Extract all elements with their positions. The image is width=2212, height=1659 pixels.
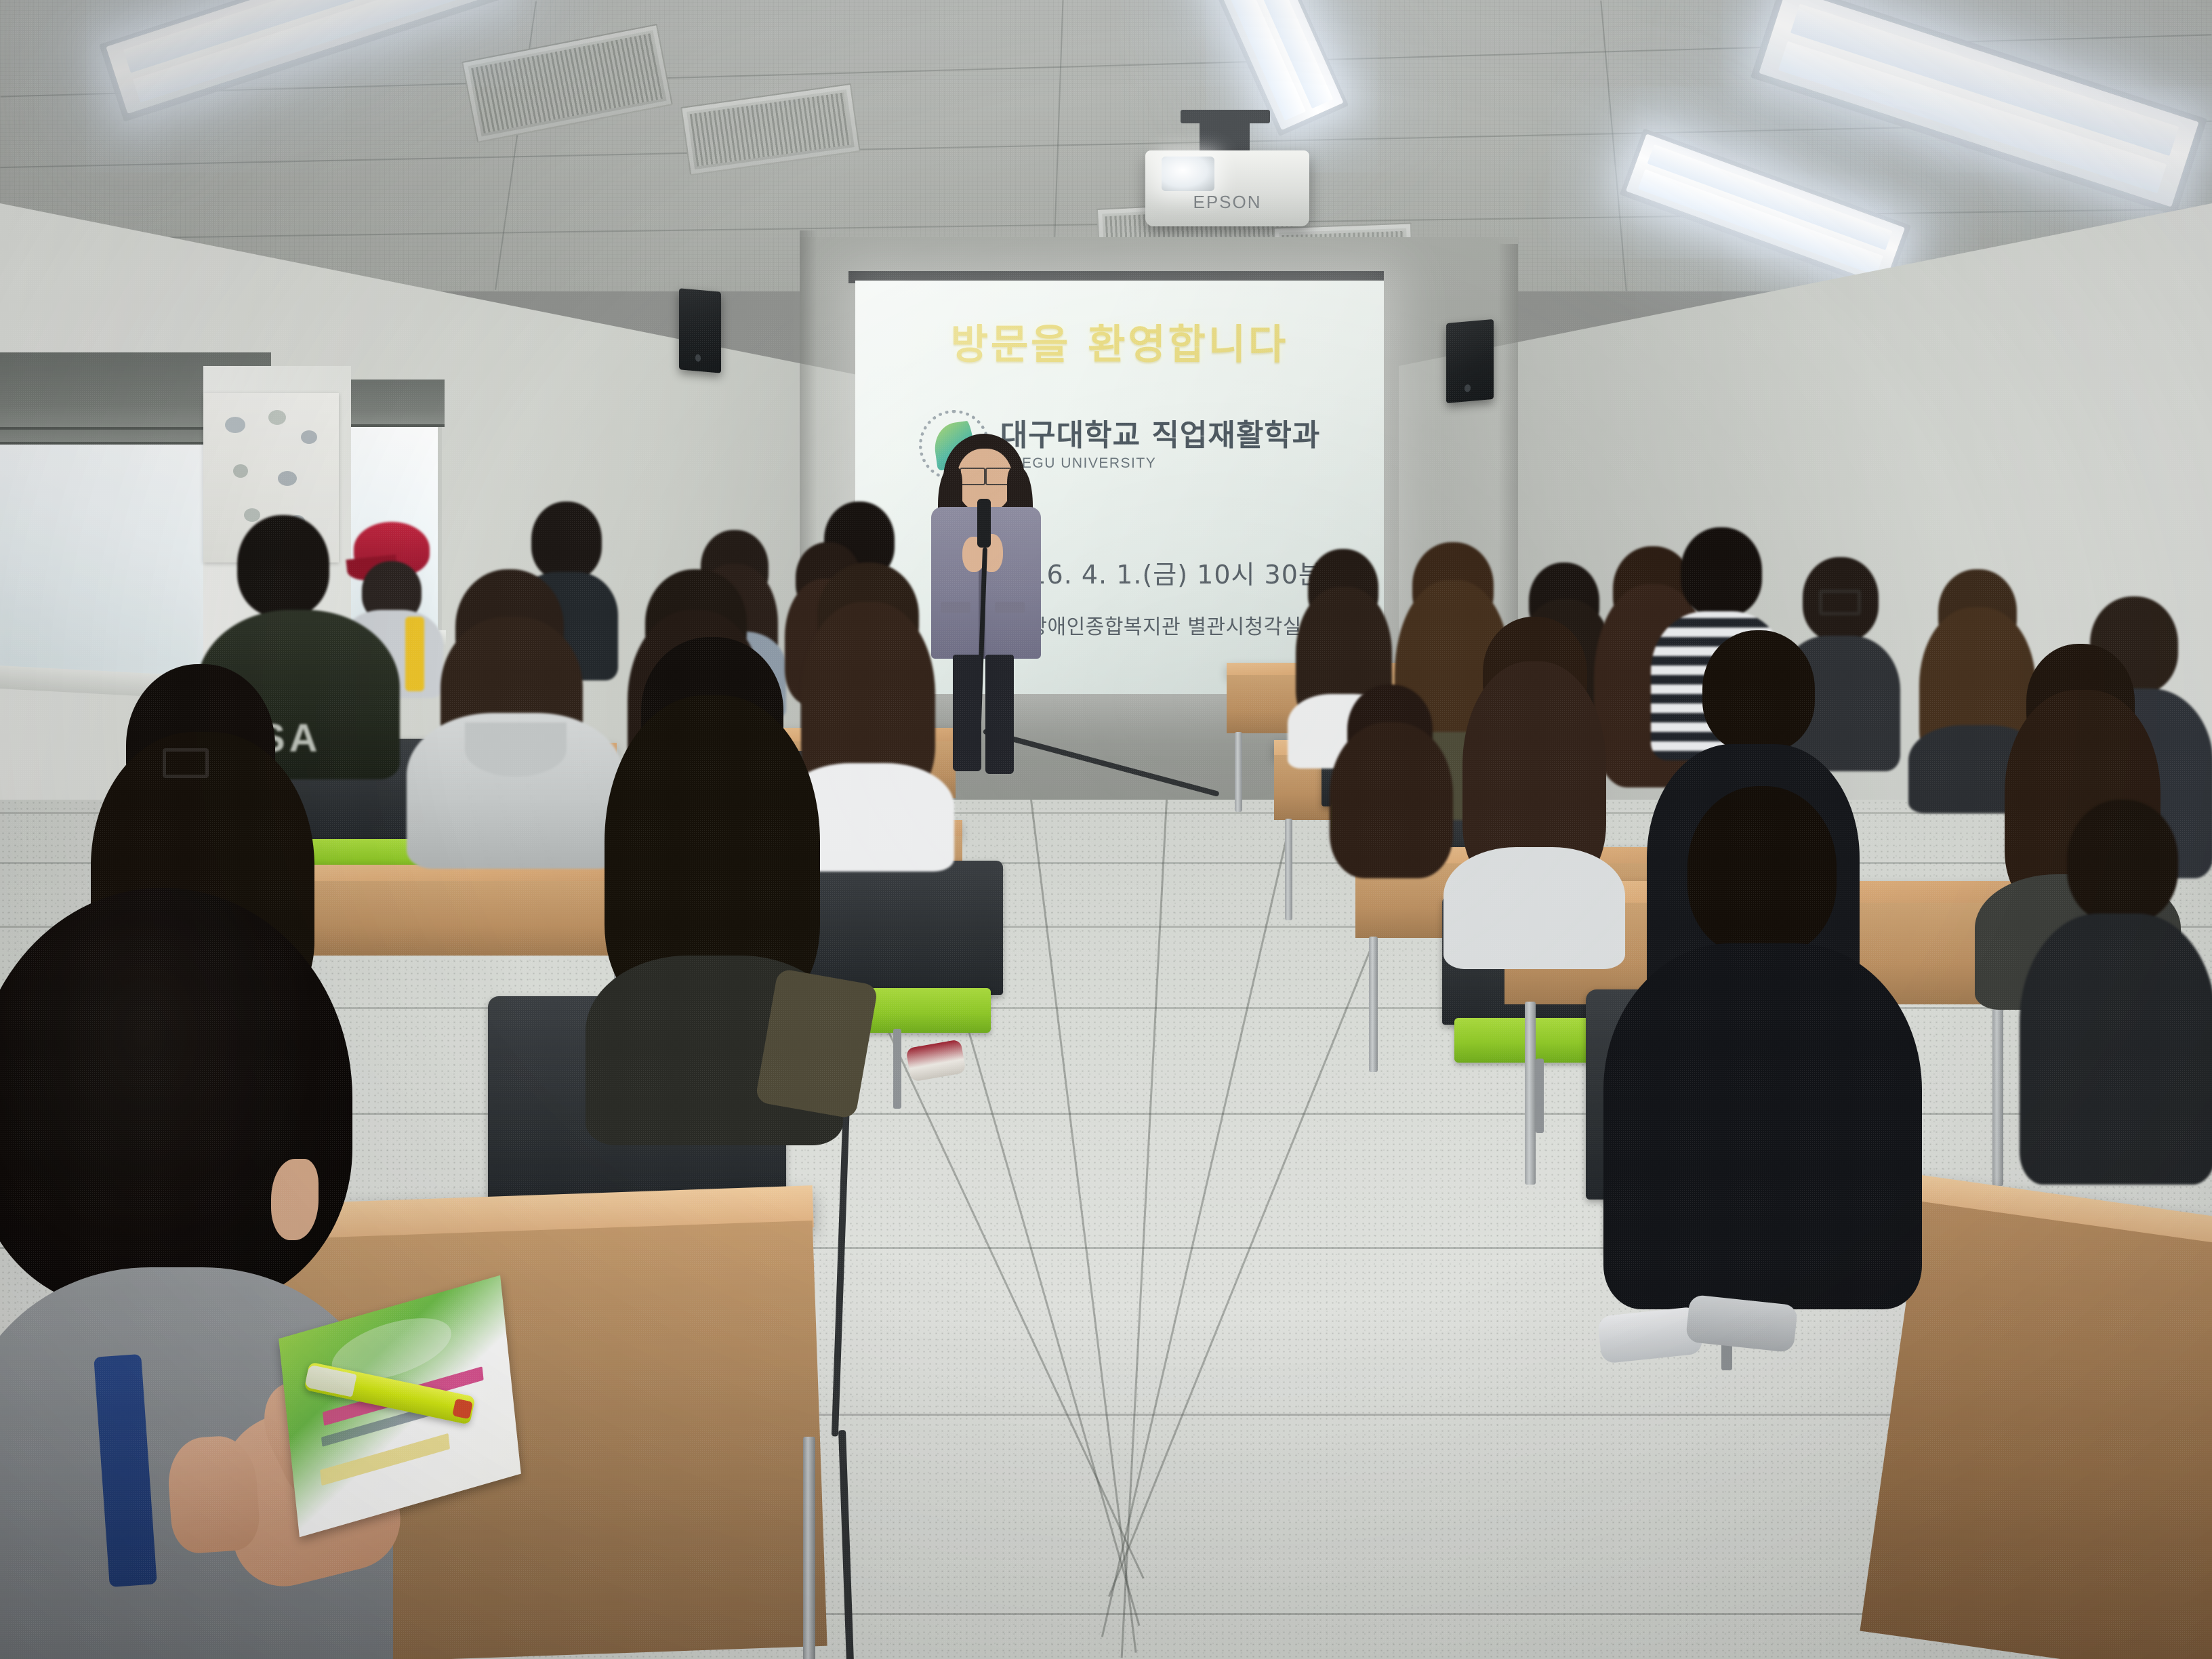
lecture-room-photo: EPSON 방문을 환영합니다 — [0, 0, 2212, 1659]
desk-leg — [803, 1437, 815, 1659]
desk-leg — [1235, 732, 1242, 812]
projector-brand-label: EPSON — [1145, 192, 1309, 213]
audience-member-foreground — [1586, 786, 1938, 1301]
presenter-glasses — [960, 468, 985, 485]
pen-clip — [452, 1398, 473, 1419]
ceiling-projector: EPSON — [1145, 150, 1309, 226]
desk-leg — [1285, 819, 1292, 920]
desk-leg — [1525, 1002, 1536, 1185]
projector-mount-plate — [1181, 110, 1270, 123]
desk-leg — [1992, 996, 2003, 1186]
foreground-ear — [271, 1159, 319, 1240]
audience-member-foreground — [562, 637, 861, 1125]
presenter-pocket — [995, 602, 1025, 613]
slide-headline: 방문을 환영합니다 — [951, 312, 1289, 371]
foreground-head — [0, 888, 352, 1308]
window-blind — [339, 380, 445, 427]
microphone — [977, 499, 991, 548]
wall-speaker-left — [679, 288, 721, 373]
eyeglasses — [1819, 590, 1861, 615]
wall-speaker-right — [1446, 319, 1494, 403]
audience-member — [1308, 684, 1471, 915]
presenter-leg — [985, 655, 1014, 774]
audience-member — [2020, 800, 2212, 1179]
projector-lens — [1162, 157, 1214, 192]
eyeglasses — [163, 748, 209, 778]
hood — [465, 722, 567, 777]
desk-leg — [1369, 937, 1378, 1072]
